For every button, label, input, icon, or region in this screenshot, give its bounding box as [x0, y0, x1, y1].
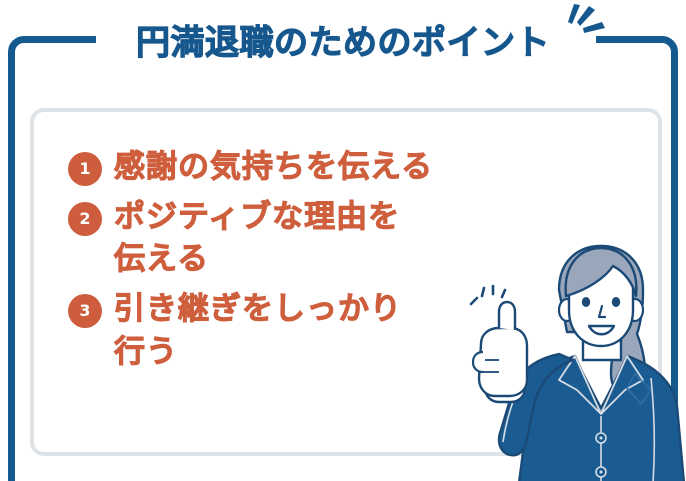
index-finger [499, 302, 515, 330]
page-title-text: 円満退職のためのポイント [136, 26, 550, 60]
point-label: ポジティブな理由を 伝える [114, 196, 400, 280]
points-list: 1 感謝の気持ちを伝える 2 ポジティブな理由を 伝える 3 引き継ぎをしっかり… [68, 146, 488, 381]
point-label: 引き継ぎをしっかり 行う [114, 288, 402, 372]
thumb [473, 352, 483, 372]
eye-right [612, 297, 620, 307]
hand-fist [479, 328, 527, 396]
point-number-badge: 1 [68, 152, 102, 186]
list-item: 2 ポジティブな理由を 伝える [68, 196, 488, 280]
point-number-badge: 2 [68, 202, 102, 236]
list-item: 1 感謝の気持ちを伝える [68, 146, 488, 188]
sparkle-burst-icon [556, 2, 618, 42]
point-label: 感謝の気持ちを伝える [114, 146, 433, 188]
list-item: 3 引き継ぎをしっかり 行う [68, 288, 488, 372]
poster-root: 円満退職のためのポイント 1 感謝の気持ちを伝える 2 ポジティブな理由を 伝え… [0, 0, 686, 481]
pointing-finger-sparkle-icon [471, 286, 505, 304]
businesswoman-pointing-up-illustration [455, 238, 686, 481]
eye-left [582, 297, 590, 307]
point-number-badge: 3 [68, 294, 102, 328]
